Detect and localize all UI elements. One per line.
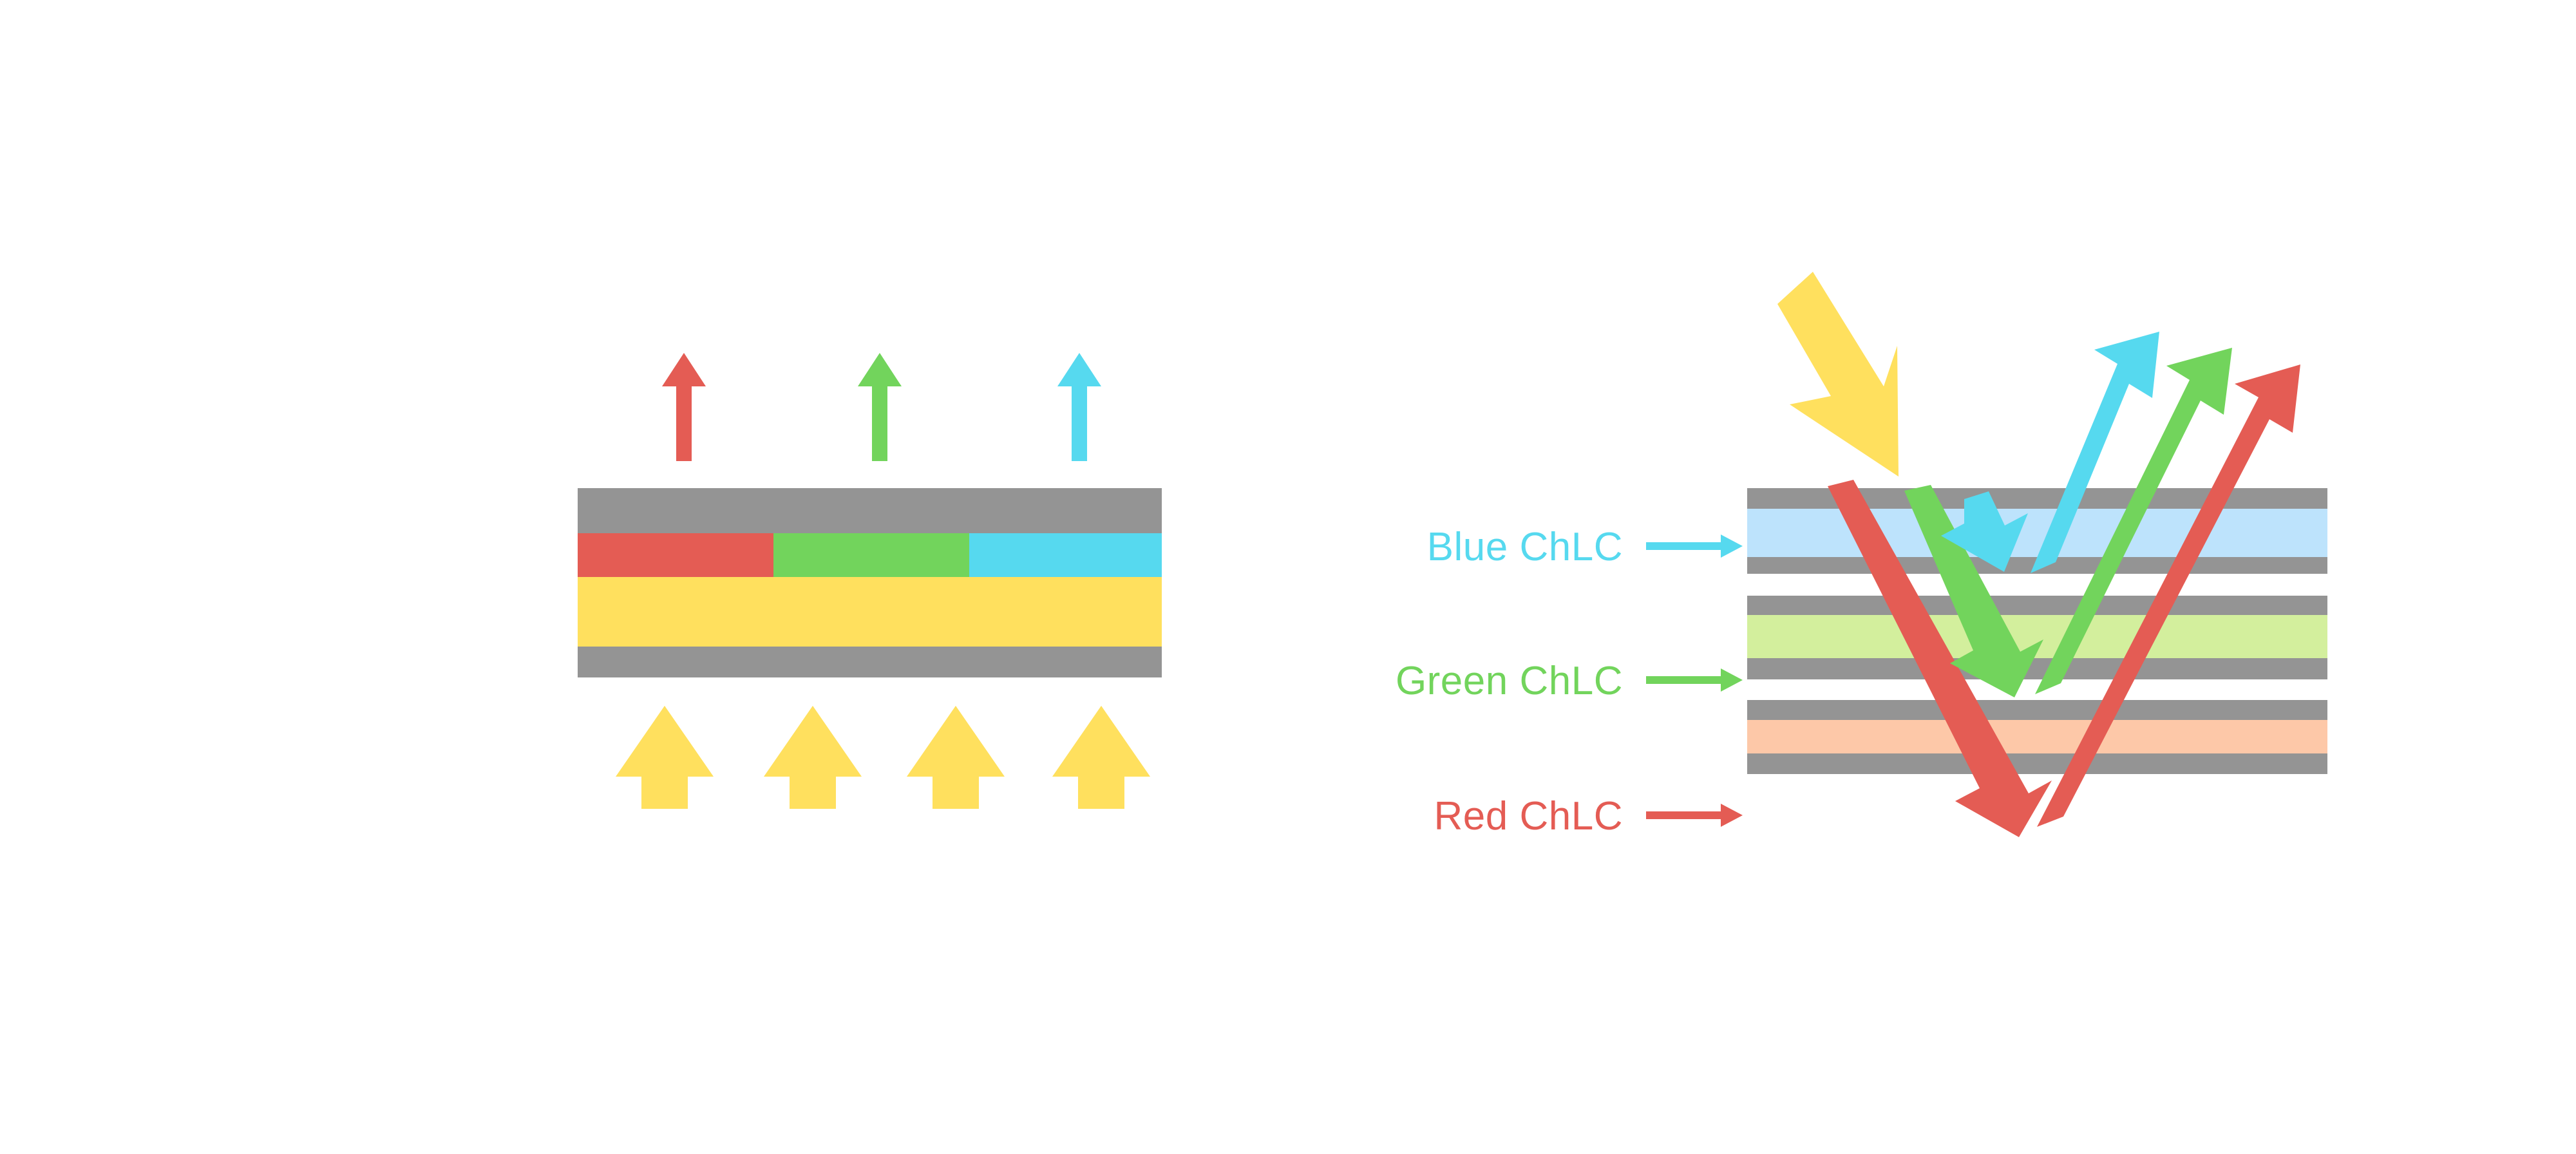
red-cell-bottom-substrate <box>1747 753 2327 774</box>
green-cell-top-substrate <box>1747 596 2327 615</box>
green-label-arrow-icon <box>1646 668 1743 692</box>
red-label-arrow-icon <box>1646 804 1743 827</box>
incident-white-light-arrow <box>1777 272 1899 477</box>
red-cell-top-substrate <box>1747 700 2327 720</box>
green-cell-bottom-substrate <box>1747 658 2327 679</box>
red-chlc-layer <box>1747 720 2327 753</box>
blue-chlc-label: Blue ChLC <box>1427 525 1623 569</box>
blue-chlc-layer <box>1747 509 2327 557</box>
blue-label-arrow-icon <box>1646 534 1743 558</box>
red-chlc-label: Red ChLC <box>1434 794 1623 838</box>
figure-root: Blue ChLC Green ChLC Red ChLC <box>0 0 2576 1154</box>
green-chlc-label: Green ChLC <box>1396 659 1623 703</box>
right-panel-chlc-stack: Blue ChLC Green ChLC Red ChLC <box>0 0 2576 1154</box>
label-arrow-group <box>1646 534 1743 827</box>
